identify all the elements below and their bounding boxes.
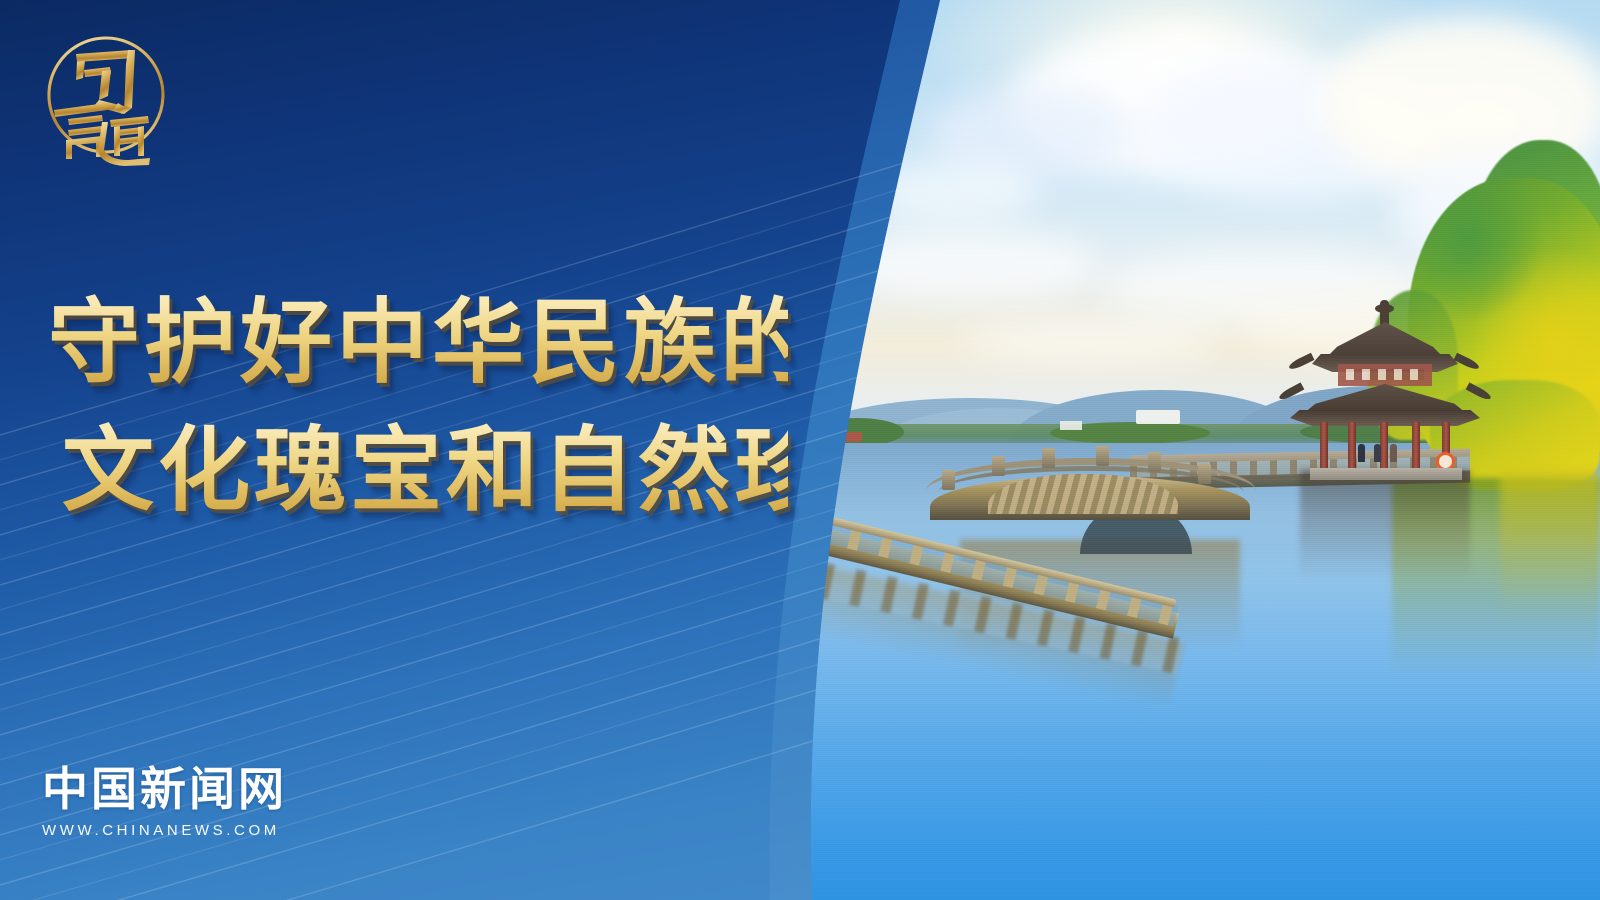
poster-canvas: 守护好中华民族的 文化瑰宝和自然珍宝 中国新闻网 WWW.CHINANEWS.C… <box>0 0 1600 900</box>
brand-url: WWW.CHINANEWS.COM <box>42 822 362 839</box>
chinanews-brand: 中国新闻网 WWW.CHINANEWS.COM <box>42 762 362 839</box>
xi-yan-dao-emblem <box>36 26 176 168</box>
emblem-svg <box>36 26 176 168</box>
page-title: 守护好中华民族的 文化瑰宝和自然珍宝 <box>48 278 788 534</box>
headline-line-2: 文化瑰宝和自然珍宝 <box>62 406 788 534</box>
headline-line-1: 守护好中华民族的 <box>48 278 788 406</box>
brand-name: 中国新闻网 <box>42 762 362 816</box>
